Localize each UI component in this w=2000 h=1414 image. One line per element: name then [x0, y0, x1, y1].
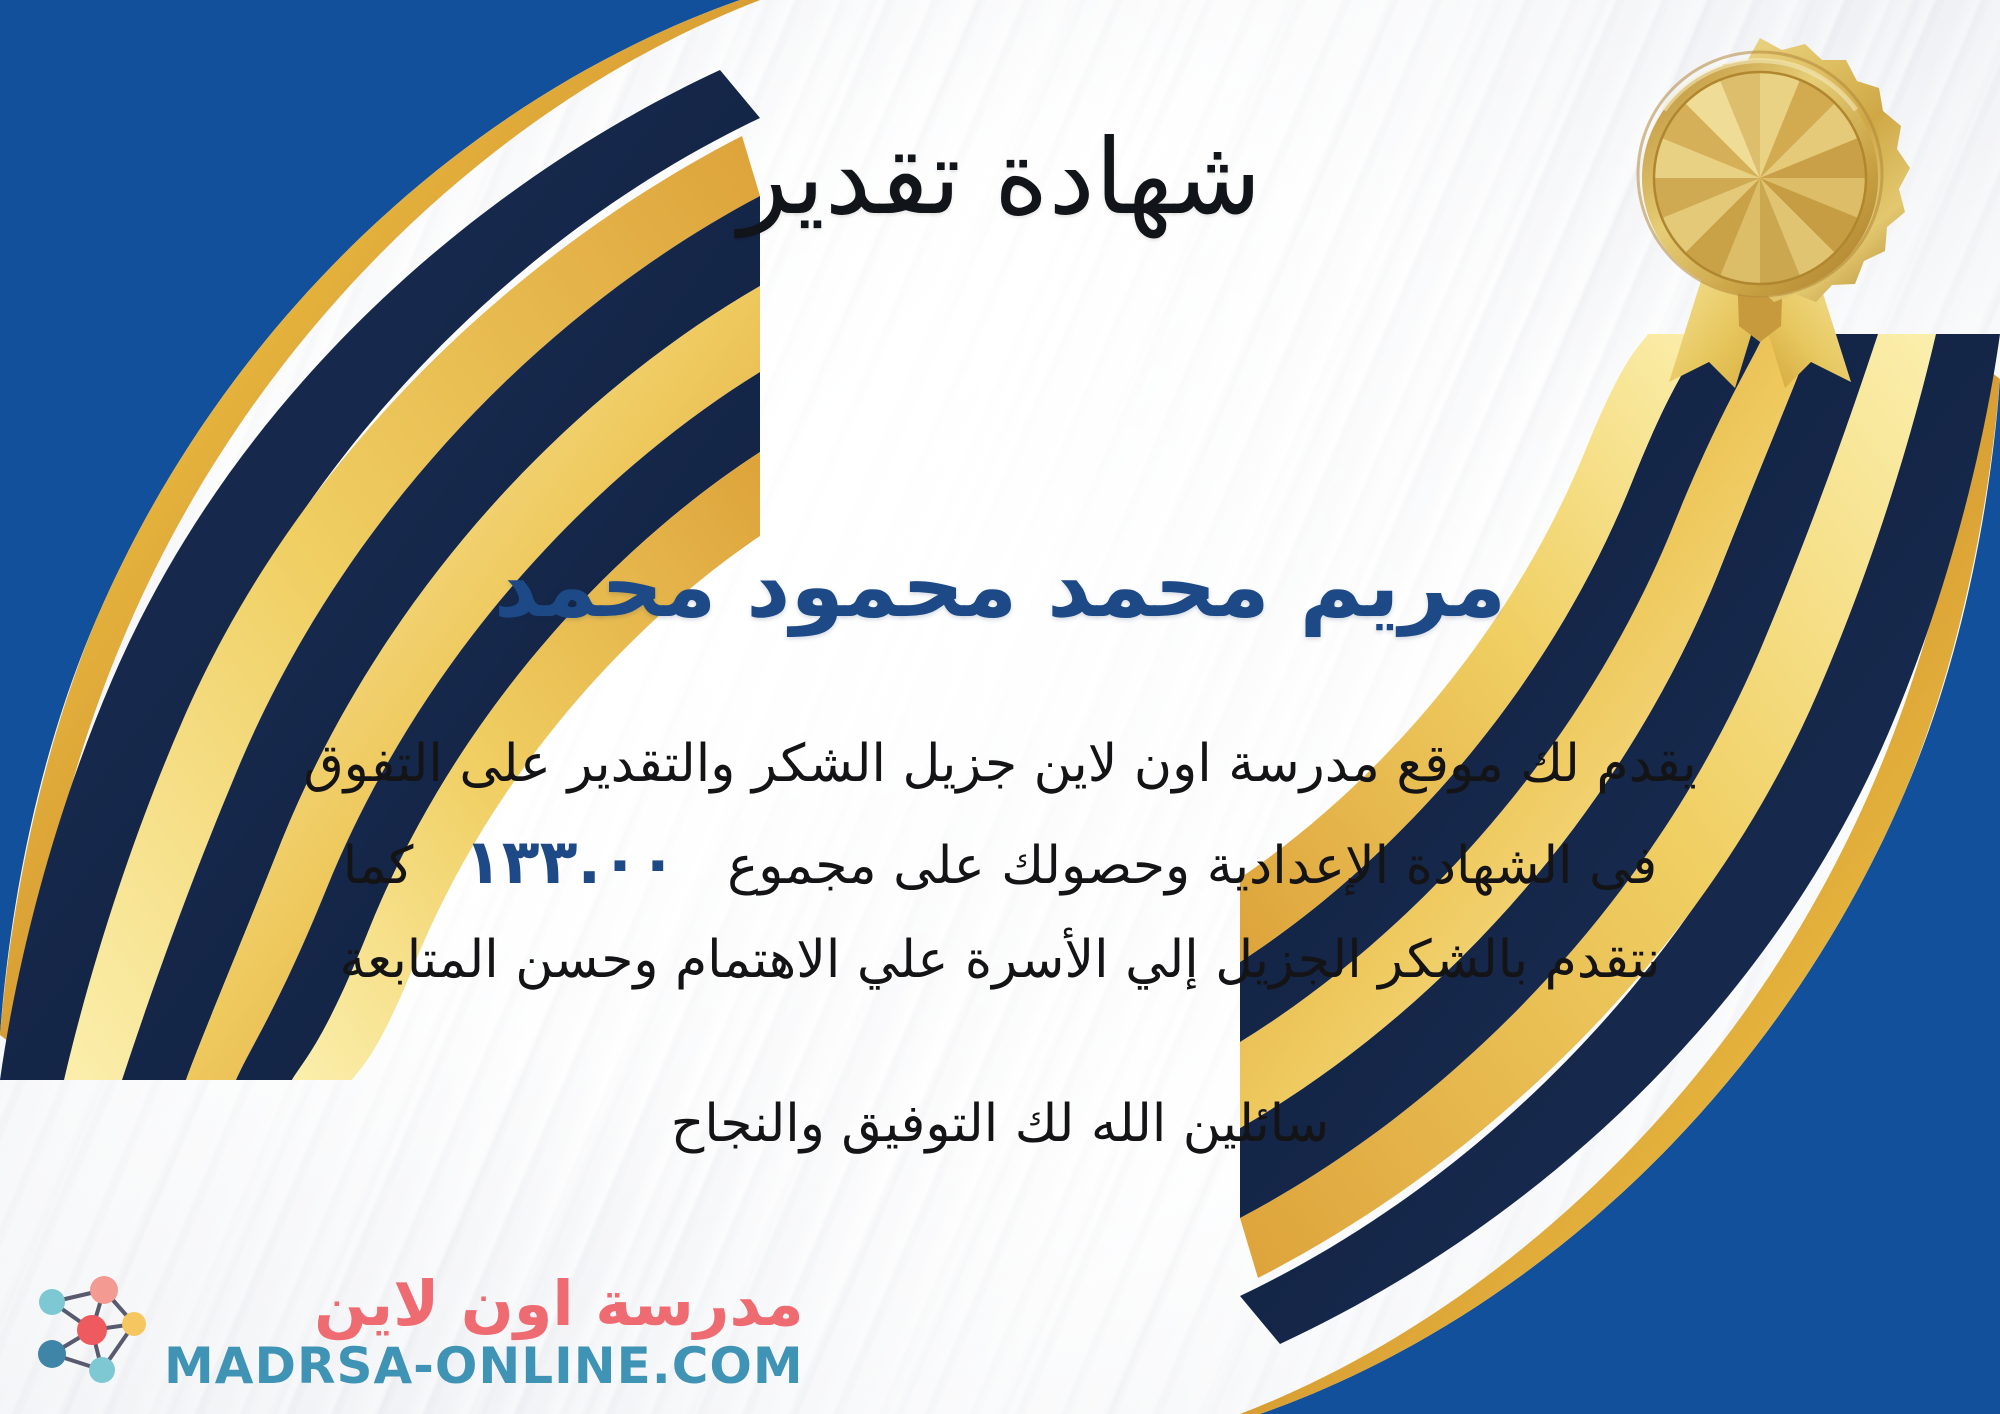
student-name: مريم محمد محمود محمد [0, 536, 2000, 639]
body-line-1: يقدم لك موقع مدرسة اون لاين جزيل الشكر و… [60, 720, 1940, 809]
brand-logo-text: مدرسة اون لاين MADRSA-ONLINE.COM [164, 1273, 804, 1391]
body-line-2-right: فى الشهادة الإعدادية وحصولك على مجموع [727, 836, 1657, 896]
certificate-closing-line: سائلين الله لك التوفيق والنجاح [0, 1085, 2000, 1163]
certificate-body: يقدم لك موقع مدرسة اون لاين جزيل الشكر و… [60, 720, 1940, 1006]
network-nodes-icon [30, 1272, 150, 1392]
brand-logo[interactable]: مدرسة اون لاين MADRSA-ONLINE.COM [30, 1272, 804, 1392]
certificate-title: شهادة تقدير [0, 118, 2000, 238]
body-line-2-left: كما [343, 836, 414, 896]
brand-name-english: MADRSA-ONLINE.COM [164, 1341, 804, 1391]
total-score-value: ١٣٣.٠٠ [430, 825, 711, 898]
body-line-2: فى الشهادة الإعدادية وحصولك على مجموع ١٣… [60, 809, 1940, 916]
body-line-3: نتقدم بالشكر الجزيل إلي الأسرة علي الاهت… [60, 916, 1940, 1005]
certificate-canvas: شهادة تقدير مريم محمد محمود محمد يقدم لك… [0, 0, 2000, 1414]
brand-name-arabic: مدرسة اون لاين [314, 1273, 804, 1335]
